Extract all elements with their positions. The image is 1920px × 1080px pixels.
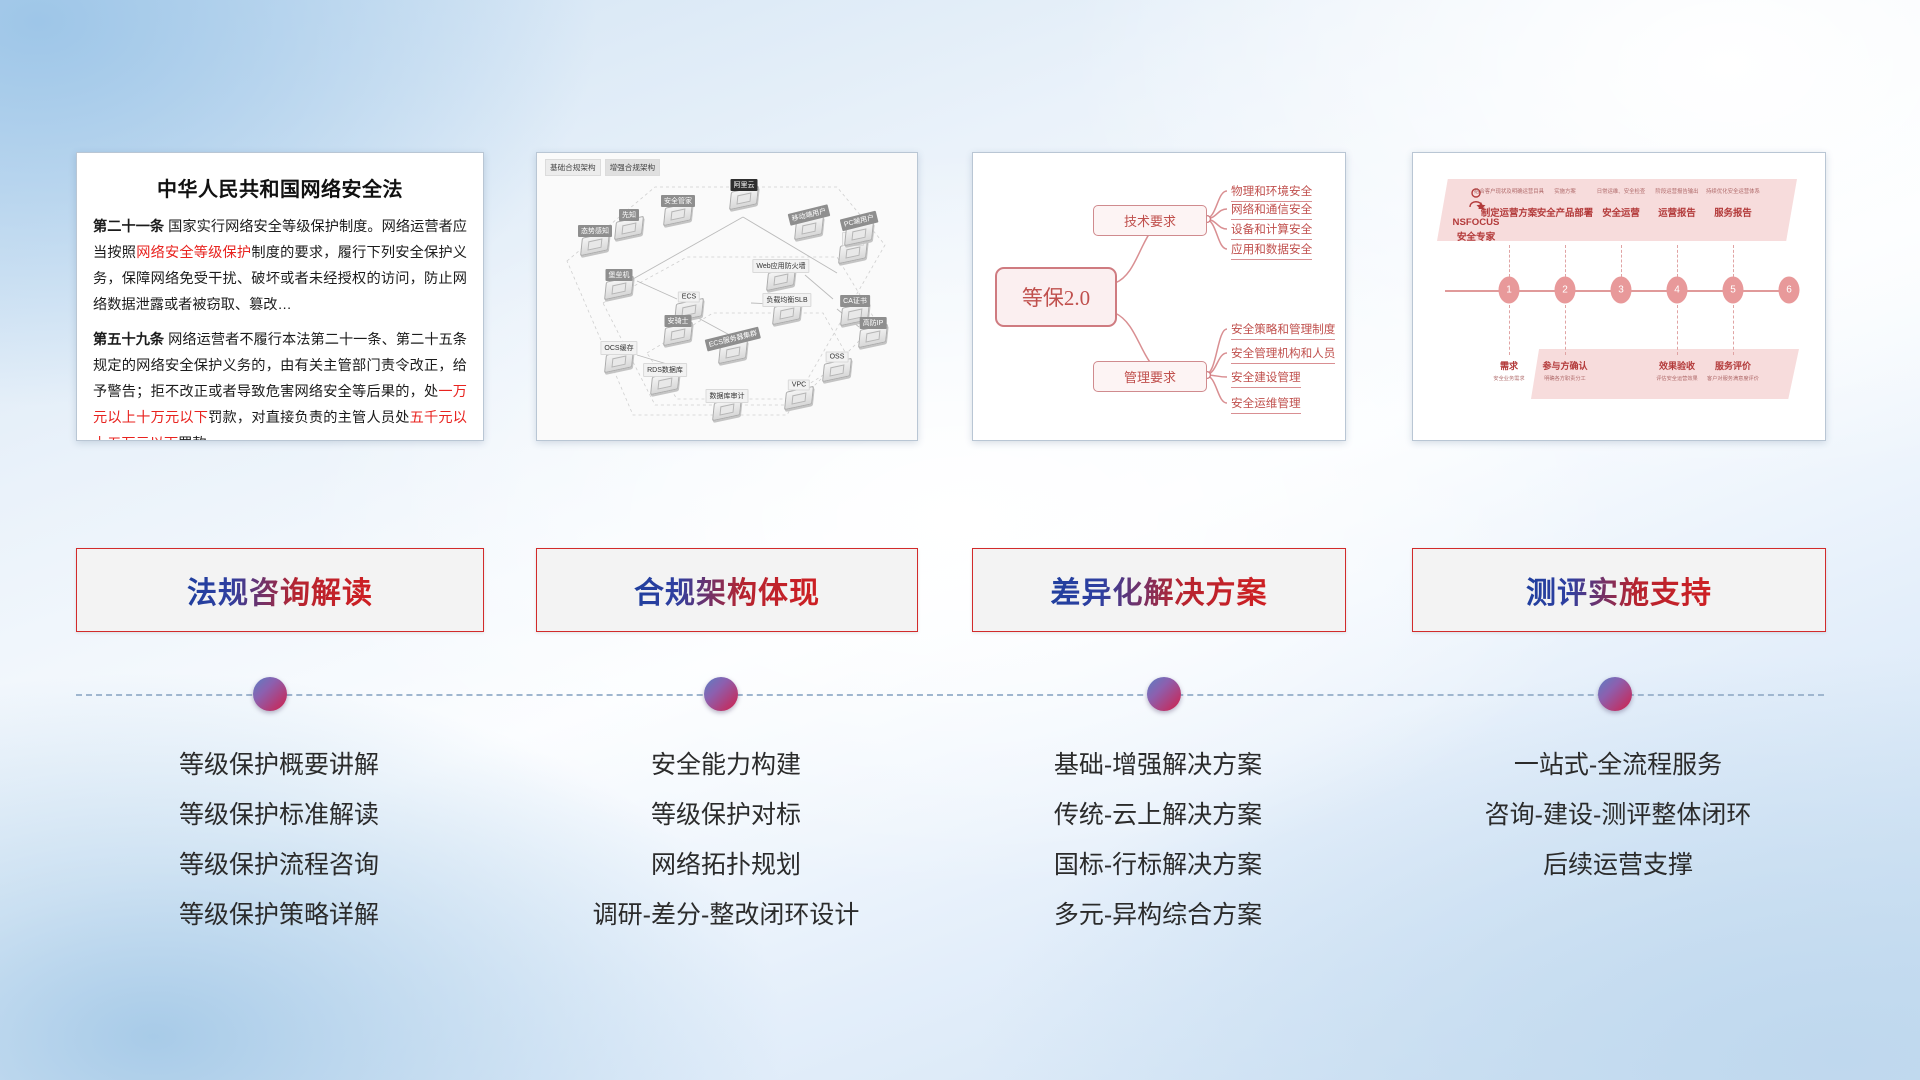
timeline-bottom-sub: 明确各方职责分工 (1528, 375, 1602, 382)
mindmap-branch-management: 管理要求 (1093, 361, 1207, 392)
list-item: 传统-云上解决方案 (972, 790, 1344, 840)
timeline-dashed-line (76, 694, 1824, 696)
service-list-4: 一站式-全流程服务咨询-建设-测评整体闭环后续运营支撑 (1412, 740, 1824, 890)
architecture-node-label: OSS (826, 352, 849, 363)
architecture-node-icon (823, 361, 851, 379)
card-nsfocus-timeline[interactable]: NSFOCUS 安全专家 结合客户现状及明确运营目具制定运营方案1实施方案安全产… (1412, 152, 1826, 441)
architecture-node-icon (785, 389, 813, 407)
architecture-node-label: 高防IP (860, 317, 887, 329)
timeline-bottom-title: 参与方确认 (1528, 359, 1602, 372)
architecture-node-icon (859, 327, 887, 345)
architecture-node-label: Web应用防火墙 (752, 259, 809, 273)
list-item: 等级保护流程咨询 (76, 840, 482, 890)
architecture-node-icon (730, 189, 758, 207)
timeline-tick (1565, 305, 1567, 355)
timeline-step-sub: 持续优化安全运营体系 (1696, 189, 1770, 195)
timeline-node-2[interactable] (704, 677, 738, 711)
timeline-step-number[interactable]: 5 (1723, 277, 1744, 304)
timeline-step-number[interactable]: 4 (1667, 277, 1688, 304)
timeline-step-number[interactable]: 6 (1779, 277, 1800, 304)
architecture-diagram: 基础合规架构 增强合规架构 (537, 153, 917, 440)
mindmap-leaf: 安全策略和管理制度 (1231, 321, 1335, 340)
architecture-node-icon (605, 279, 633, 297)
architecture-node-icon (664, 325, 692, 343)
architecture-node-icon (615, 219, 643, 237)
section-title-1: 法规咨询解读 (187, 568, 373, 612)
list-item: 一站式-全流程服务 (1412, 740, 1824, 790)
timeline-tick (1677, 305, 1679, 355)
architecture-node-label: RDS数据库 (643, 363, 687, 377)
timeline-step-label: 持续优化安全运营体系服务报告 (1696, 189, 1770, 219)
timeline-node-4[interactable] (1598, 677, 1632, 711)
nsfocus-brand-sub: 安全专家 (1449, 232, 1503, 244)
mindmap: 等保2.0 技术要求 管理要求 物理和环境安全网络和通信安全设备和计算安全应用和… (973, 153, 1345, 440)
law-article-59-label: 第五十九条 (93, 332, 164, 348)
law-article-59-text-b: 罚款，对直接负责的主管人员处 (208, 410, 409, 426)
section-title-3: 差异化解决方案 (1051, 568, 1268, 612)
timeline-tick (1733, 305, 1735, 355)
timeline-step-number[interactable]: 2 (1555, 277, 1576, 304)
service-list-1: 等级保护概要讲解等级保护标准解读等级保护流程咨询等级保护策略详解 (76, 740, 482, 940)
card-cybersecurity-law[interactable]: 中华人民共和国网络安全法 第二十一条 国家实行网络安全等级保护制度。网络运营者应… (76, 152, 484, 441)
architecture-node-label: 先知 (619, 209, 639, 221)
section-title-box-4[interactable]: 测评实施支持 (1412, 548, 1826, 632)
architecture-node-label: OCS缓存 (600, 341, 637, 355)
timeline-tick (1677, 245, 1679, 277)
list-item: 后续运营支撑 (1412, 840, 1824, 890)
list-item: 网络拓扑规划 (536, 840, 916, 890)
law-article-59: 第五十九条 网络运营者不履行本法第二十一条、第二十五条规定的网络安全保护义务的，… (93, 327, 467, 441)
mindmap-leaf: 设备和计算安全 (1231, 221, 1312, 240)
law-document: 中华人民共和国网络安全法 第二十一条 国家实行网络安全等级保护制度。网络运营者应… (77, 153, 483, 440)
list-item: 多元-异构综合方案 (972, 890, 1344, 940)
section-title-box-1[interactable]: 法规咨询解读 (76, 548, 484, 632)
architecture-node-label: 负载均衡SLB (762, 293, 811, 307)
mindmap-leaf: 物理和环境安全 (1231, 183, 1312, 202)
mindmap-leaf: 安全建设管理 (1231, 369, 1301, 388)
architecture-node-label: 阿里云 (731, 179, 758, 191)
timeline-tick (1565, 245, 1567, 277)
architecture-node-icon (664, 205, 692, 223)
mindmap-branch-technical: 技术要求 (1093, 205, 1207, 236)
card-mindmap-dengbao[interactable]: 等保2.0 技术要求 管理要求 物理和环境安全网络和通信安全设备和计算安全应用和… (972, 152, 1346, 441)
architecture-node-label: 安骑士 (665, 315, 692, 327)
list-item: 等级保护概要讲解 (76, 740, 482, 790)
mindmap-root-node: 等保2.0 (995, 267, 1117, 327)
card-cloud-architecture[interactable]: 基础合规架构 增强合规架构 (536, 152, 918, 441)
service-list-2: 安全能力构建等级保护对标网络拓扑规划调研-差分-整改闭环设计 (536, 740, 916, 940)
timeline-tick (1509, 245, 1511, 277)
architecture-node-label: 态势感知 (578, 225, 612, 237)
timeline-step-number[interactable]: 1 (1499, 277, 1520, 304)
list-item: 基础-增强解决方案 (972, 740, 1344, 790)
slide-stage: 中华人民共和国网络安全法 第二十一条 国家实行网络安全等级保护制度。网络运营者应… (0, 0, 1920, 1080)
architecture-node-label: 堡垒机 (606, 269, 633, 281)
architecture-node-icon (581, 235, 609, 253)
list-item: 调研-差分-整改闭环设计 (536, 890, 916, 940)
timeline-node-3[interactable] (1147, 677, 1181, 711)
section-title-box-2[interactable]: 合规架构体现 (536, 548, 918, 632)
architecture-node-label: VPC (788, 380, 810, 391)
architecture-node-label: 安全管家 (661, 195, 695, 207)
service-list-3: 基础-增强解决方案传统-云上解决方案国标-行标解决方案多元-异构综合方案 (972, 740, 1344, 940)
timeline-bottom-sub: 客户对服务满意度评价 (1696, 375, 1770, 382)
section-title-2: 合规架构体现 (634, 568, 820, 612)
timeline-step-number[interactable]: 3 (1611, 277, 1632, 304)
timeline-tick (1509, 305, 1511, 355)
list-item: 咨询-建设-测评整体闭环 (1412, 790, 1824, 840)
law-article-21-highlight: 网络安全等级保护 (136, 245, 251, 261)
architecture-node-label: 数据库审计 (706, 389, 749, 403)
timeline-bottom-title: 服务评价 (1696, 359, 1770, 372)
list-item: 国标-行标解决方案 (972, 840, 1344, 890)
architecture-node-label: ECS (678, 292, 700, 303)
list-item: 等级保护策略详解 (76, 890, 482, 940)
mindmap-leaf: 应用和数据安全 (1231, 241, 1312, 260)
list-item: 等级保护标准解读 (76, 790, 482, 840)
timeline-bottom-item: 服务评价客户对服务满意度评价 (1696, 359, 1770, 382)
nsfocus-infographic: NSFOCUS 安全专家 结合客户现状及明确运营目具制定运营方案1实施方案安全产… (1413, 153, 1825, 440)
list-item: 安全能力构建 (536, 740, 916, 790)
list-item: 等级保护对标 (536, 790, 916, 840)
law-article-21: 第二十一条 国家实行网络安全等级保护制度。网络运营者应当按照网络安全等级保护制度… (93, 214, 467, 318)
mindmap-leaf: 安全运维管理 (1231, 395, 1301, 414)
timeline-step-main: 服务报告 (1696, 205, 1770, 219)
timeline-tick (1621, 245, 1623, 277)
mindmap-leaf: 网络和通信安全 (1231, 201, 1312, 220)
timeline-node-1[interactable] (253, 677, 287, 711)
law-article-21-label: 第二十一条 (93, 219, 164, 235)
section-title-box-3[interactable]: 差异化解决方案 (972, 548, 1346, 632)
timeline-tick (1733, 245, 1735, 277)
mindmap-leaf: 安全管理机构和人员 (1231, 345, 1335, 364)
section-title-4: 测评实施支持 (1526, 568, 1712, 612)
timeline-bottom-item: 参与方确认明确各方职责分工 (1528, 359, 1602, 382)
architecture-node-label: CA证书 (840, 295, 870, 307)
law-title: 中华人民共和国网络安全法 (93, 173, 467, 202)
law-article-59-text-c: 罚款。 (178, 436, 221, 441)
